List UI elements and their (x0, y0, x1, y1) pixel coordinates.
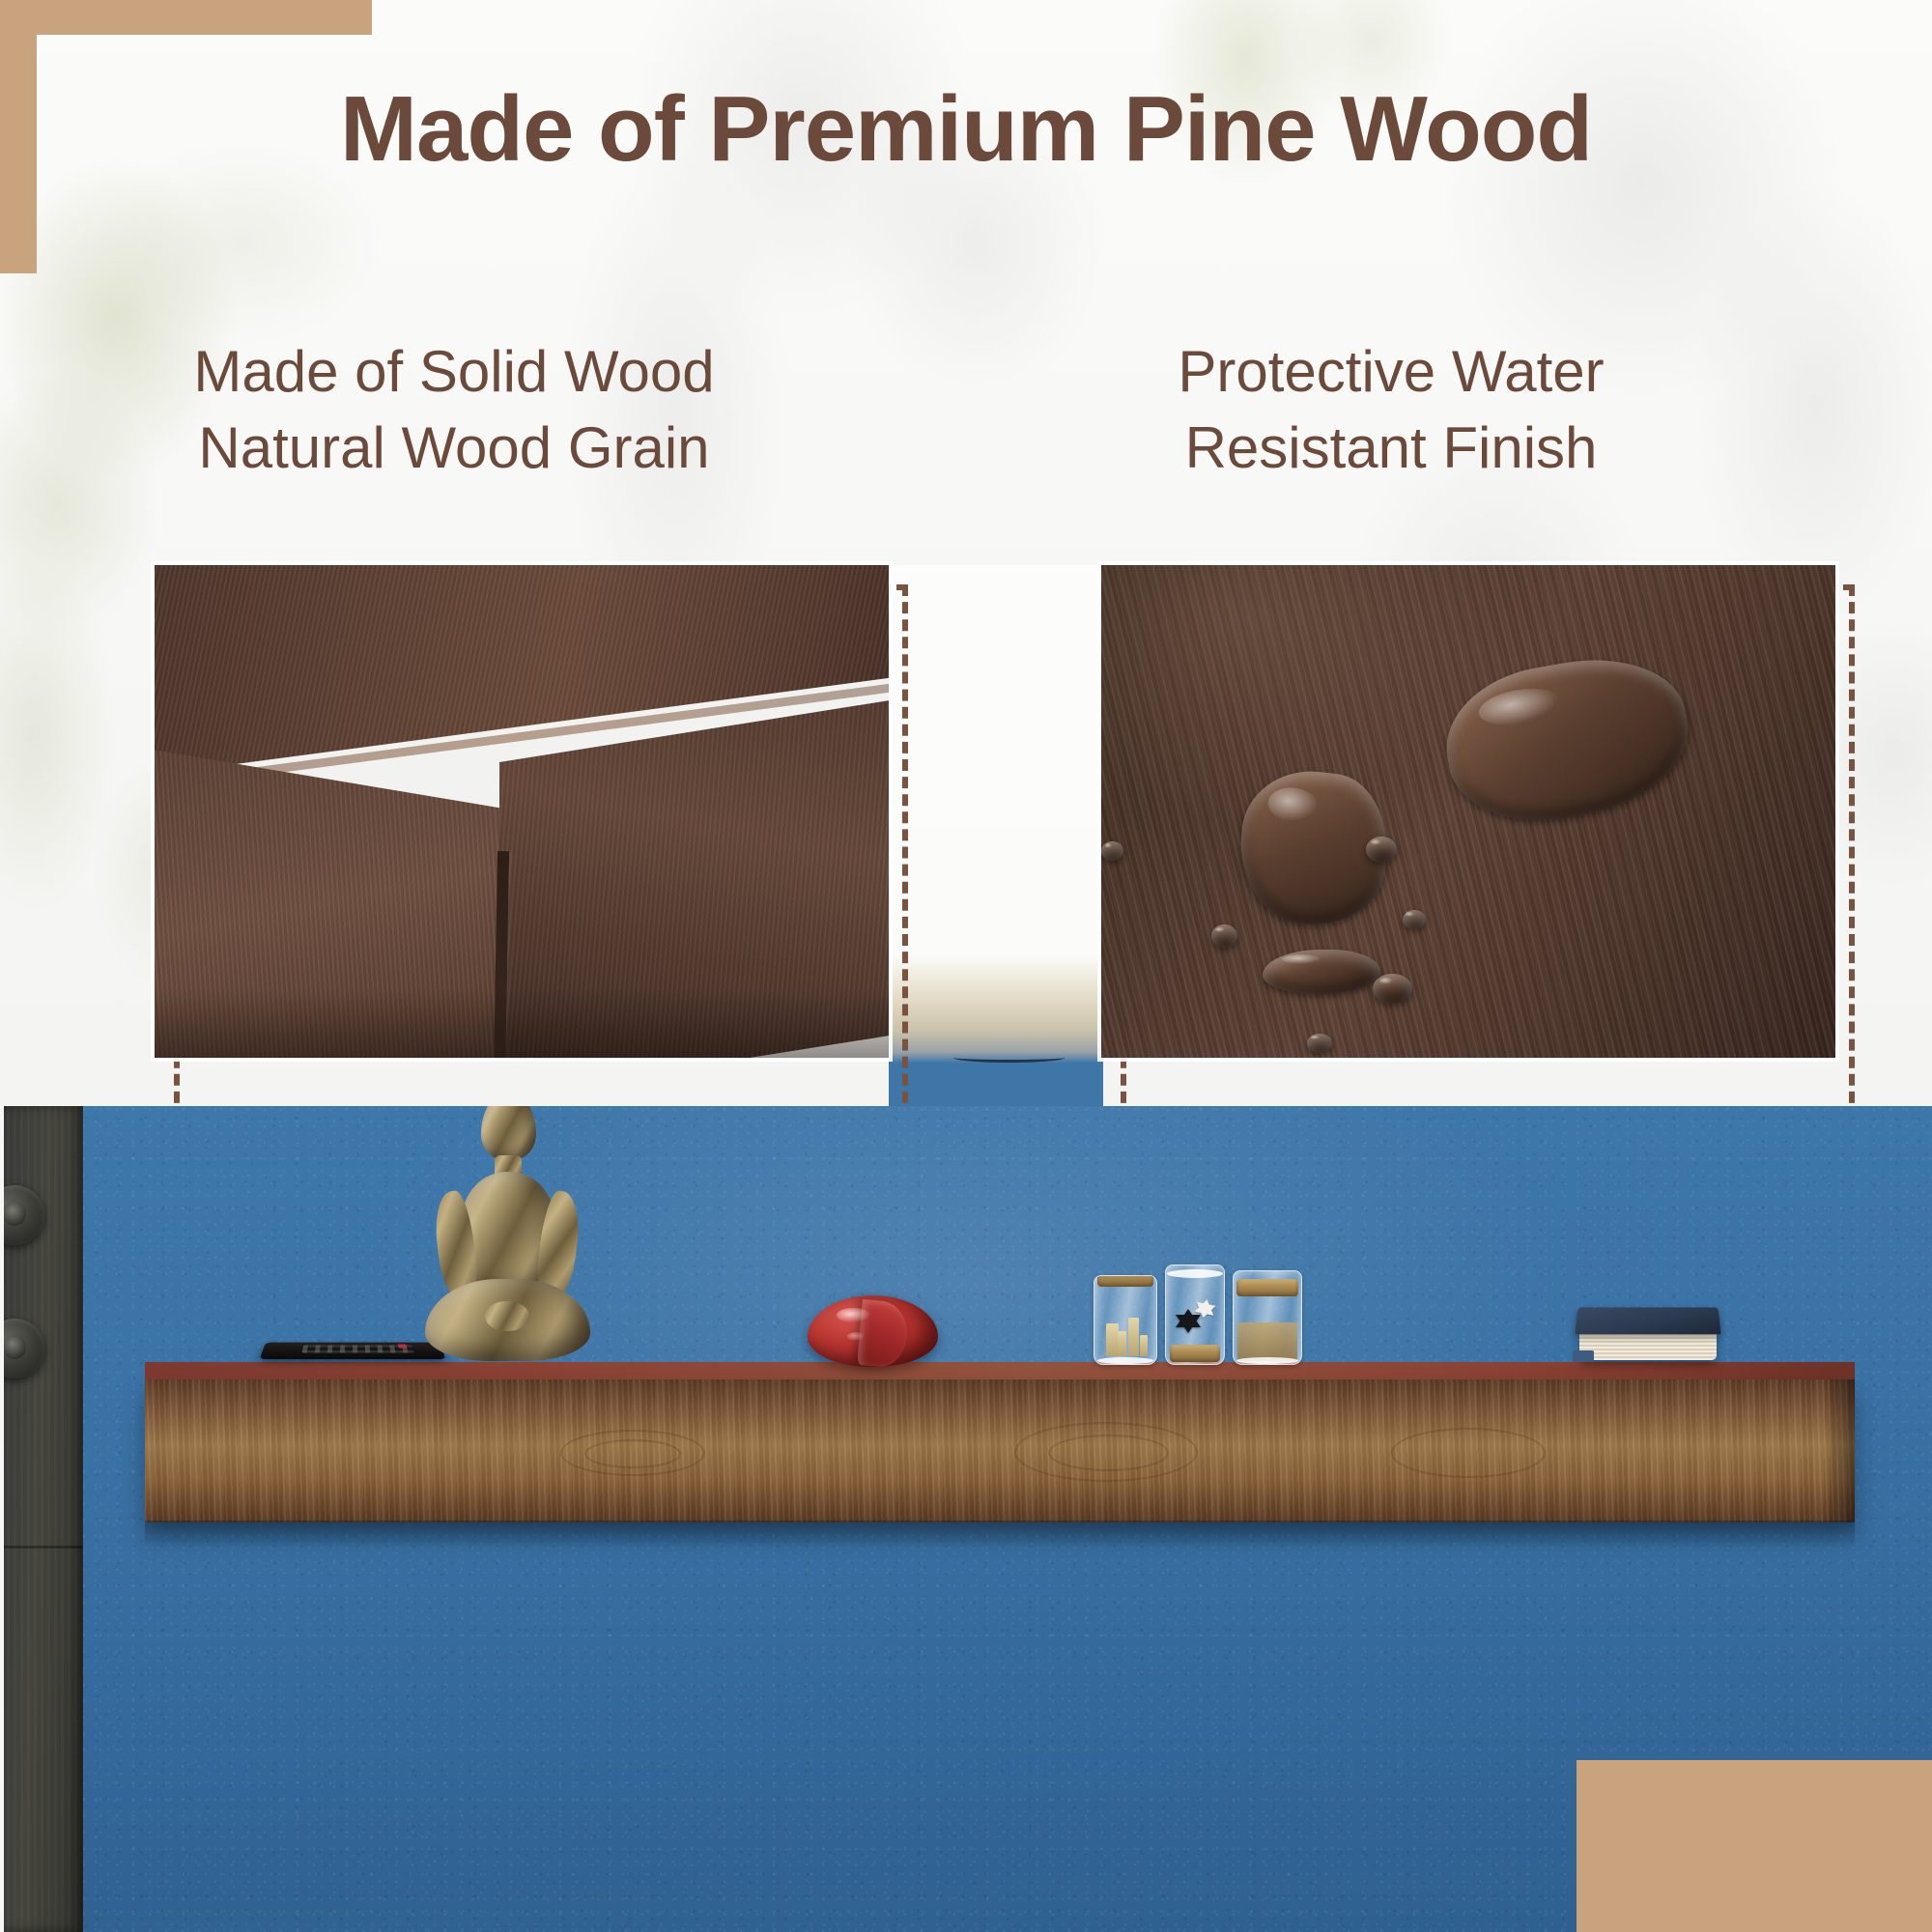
scene-left-border (0, 1106, 4, 1932)
navy-hardcover-book (1577, 1306, 1719, 1366)
glass-jar-stars (1165, 1264, 1225, 1365)
water-droplet-small (1403, 910, 1426, 929)
shelf-drop-shadow (145, 1520, 1855, 1548)
wood-corner-illustration (155, 565, 889, 1058)
book-cover (1575, 1307, 1720, 1334)
water-droplet-small (1307, 1034, 1332, 1053)
wood-grain-swirl (1391, 1428, 1546, 1478)
candle (1106, 1323, 1119, 1356)
corner-accent-bottom-right (1577, 1760, 1932, 1932)
wood-surface-illustration (1101, 565, 1835, 1058)
feature-heading-solid-wood: Made of Solid Wood Natural Wood Grain (87, 333, 821, 486)
infographic-stage: Made of Premium Pine Wood Made of Solid … (0, 0, 1932, 1932)
book-spine (1573, 1350, 1594, 1362)
corner-accent-horizontal (0, 0, 372, 35)
floating-walnut-shelf (145, 1362, 1855, 1521)
book-pages (1579, 1331, 1717, 1360)
remote-buttons (301, 1346, 413, 1353)
buddha-head (481, 1106, 536, 1160)
room-scene-photo (0, 1106, 1932, 1932)
cork-lid (1236, 1279, 1298, 1296)
glass-jar-sand (1233, 1270, 1302, 1365)
candle (1128, 1318, 1139, 1356)
background-room-sliver (889, 565, 1103, 1106)
feature-heading-line-2: Natural Wood Grain (87, 410, 821, 486)
page-title: Made of Premium Pine Wood (0, 81, 1932, 179)
three-glass-jars-with-cork-lids (1094, 1257, 1302, 1365)
feature-heading-water-resistant: Protective Water Resistant Finish (1024, 333, 1758, 486)
shelf-front-face (145, 1379, 1855, 1522)
cabinet-knob-lower (0, 1319, 44, 1378)
cork-base (1170, 1345, 1221, 1362)
sculpture-highlight (837, 1308, 870, 1322)
feature-heading-line-1: Made of Solid Wood (87, 333, 821, 410)
feature-photo-solid-wood (155, 565, 889, 1058)
cork-lid (1097, 1275, 1154, 1287)
candle (1140, 1335, 1148, 1356)
top-foliage-background: Made of Premium Pine Wood Made of Solid … (0, 0, 1932, 1111)
cabinet-knob-upper (0, 1185, 44, 1245)
water-droplet-small (1373, 974, 1412, 1004)
wood-bottom-shadow (155, 989, 889, 1058)
water-droplet-wiggle (1263, 950, 1380, 994)
star-ornament (1195, 1297, 1217, 1316)
cabinet-seam (0, 1546, 83, 1548)
glass-jar-candles (1094, 1275, 1157, 1365)
jar-rim (1167, 1269, 1223, 1278)
dark-cabinet (0, 1106, 83, 1932)
shelf-end-cap (1830, 1379, 1855, 1522)
red-abstract-sculpture (808, 1295, 938, 1367)
bronze-buddha-statue (415, 1106, 599, 1367)
water-droplet-small (1366, 837, 1397, 864)
jar-base (1097, 1357, 1154, 1364)
feature-heading-line-2: Resistant Finish (1024, 410, 1758, 486)
wood-grain-swirl (584, 1439, 681, 1468)
jar-base (1236, 1357, 1298, 1364)
remote-power-button (398, 1344, 408, 1348)
feature-heading-line-1: Protective Water (1024, 333, 1758, 410)
floor-cord (953, 1053, 1065, 1063)
water-droplet-small (1101, 841, 1123, 861)
water-droplet-small (1211, 924, 1237, 947)
candle (1118, 1331, 1126, 1356)
jar-sand-fill (1237, 1322, 1297, 1361)
buddha-hands (485, 1301, 529, 1331)
wood-grain-swirl (1048, 1435, 1169, 1471)
feature-photo-water-resistant (1101, 565, 1835, 1058)
